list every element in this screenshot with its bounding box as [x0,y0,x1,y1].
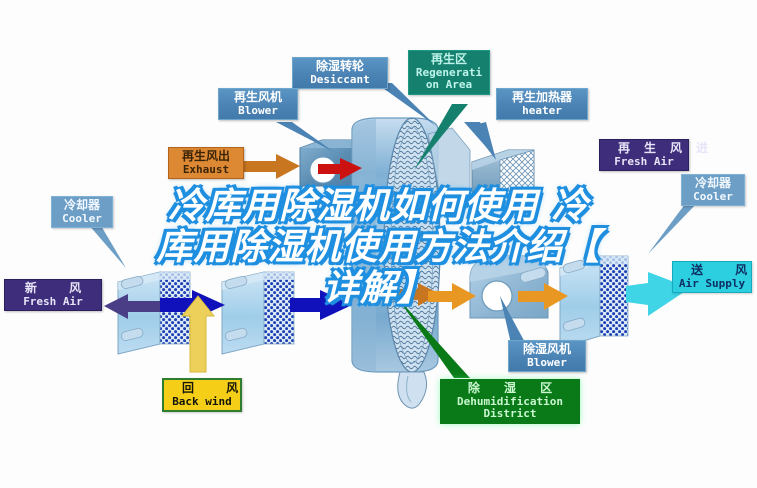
label-back-wind-en: Back wind [168,396,236,408]
label-regeneration-air-in-cn: 再生风进 [604,142,684,155]
label-dehumidification-district-cn: 除 湿 区 [445,382,575,395]
label-regeneration-blower-en: Blower [223,105,293,117]
label-regeneration-air-in: 再生风进 Fresh Air [599,139,689,171]
label-dehumidification-blower-cn: 除湿风机 [513,343,581,356]
label-dehumidification-blower: 除湿风机 Blower [508,340,586,372]
page-title-line-3: 详解】 [22,268,735,309]
label-regeneration-heater-en: heater [501,105,583,117]
page-title-line-2: 库用除湿机使用方法介绍【 [22,227,735,268]
label-exhaust-en: Exhaust [173,164,239,176]
label-exhaust-cn: 再生风出 [173,150,239,163]
label-dehumidification-district: 除 湿 区 Dehumidification District [440,379,580,424]
label-regeneration-area-en-1: Regenerati [413,67,485,79]
label-dehumidification-blower-en: Blower [513,357,581,369]
label-regeneration-heater-cn: 再生加热器 [501,91,583,104]
label-regeneration-area-cn: 再生区 [413,53,485,66]
label-regeneration-area-en-2: on Area [413,79,485,91]
page-title-line-1: 冷库用除湿机如何使用 冷 [22,186,735,227]
label-regeneration-blower-cn: 再生风机 [223,91,293,104]
label-regeneration-area: 再生区 Regenerati on Area [408,50,490,95]
label-back-wind-cn: 回 风 [168,382,236,395]
label-desiccant-wheel-en: Desiccant [297,74,383,86]
label-back-wind: 回 风 Back wind [162,378,242,412]
label-dehumidification-district-en-2: District [445,408,575,420]
label-regeneration-heater: 再生加热器 heater [496,88,588,120]
label-regeneration-blower: 再生风机 Blower [218,88,298,120]
label-exhaust: 再生风出 Exhaust [168,147,244,179]
label-desiccant-wheel-cn: 除湿转轮 [297,60,383,73]
label-dehumidification-district-en-1: Dehumidification [445,396,575,408]
label-desiccant-wheel: 除湿转轮 Desiccant [292,57,388,89]
page-title: 冷库用除湿机如何使用 冷 库用除湿机使用方法介绍【 详解】 [0,186,757,309]
diagram-canvas: 除湿转轮 Desiccant 再生风机 Blower 再生区 Regenerat… [0,0,757,488]
label-regeneration-air-in-en: Fresh Air [604,156,684,168]
